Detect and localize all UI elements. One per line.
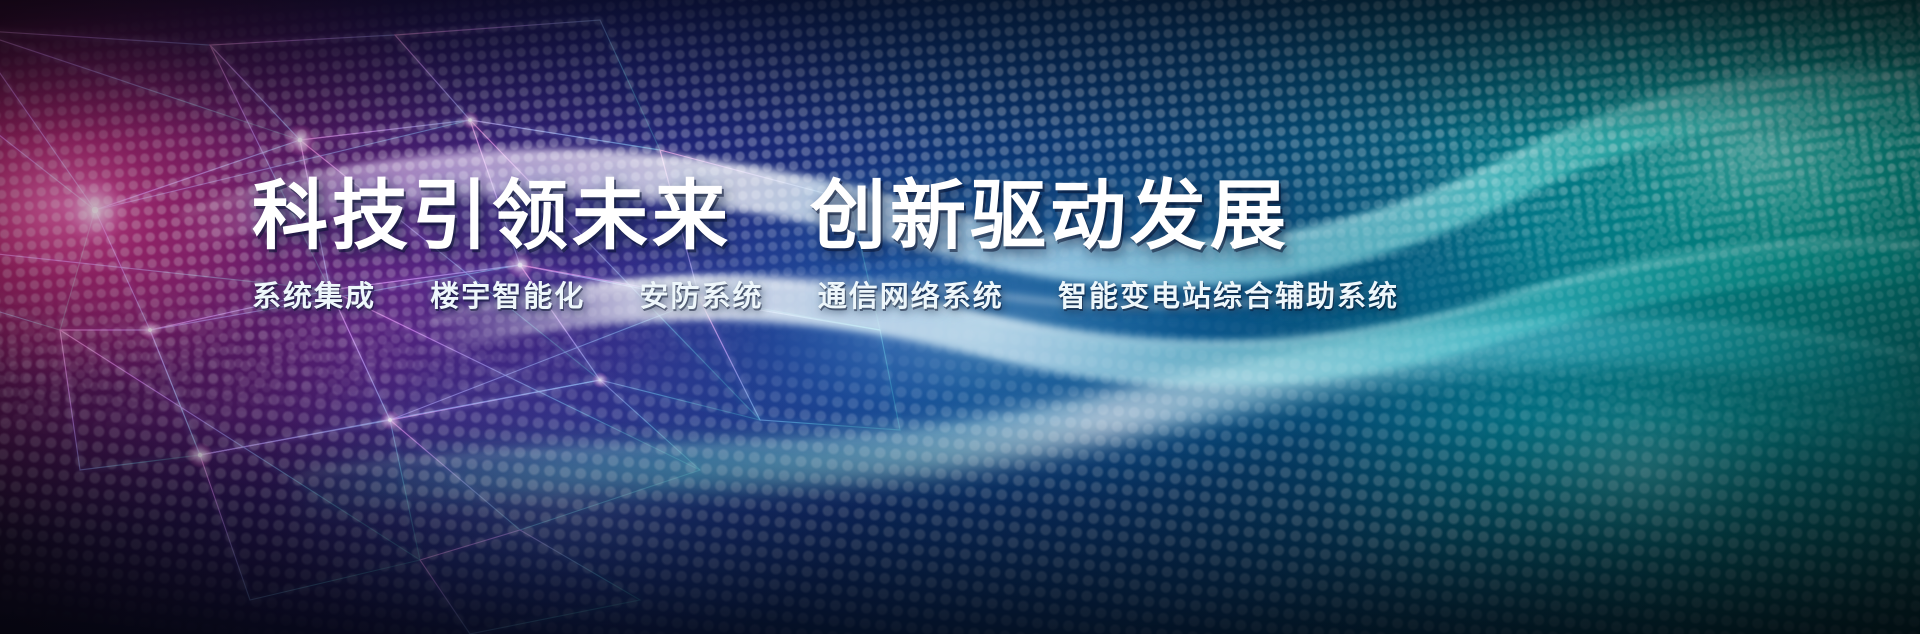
subtitle-item-1: 楼宇智能化 — [430, 282, 585, 311]
tech-banner: 科技引领未来 创新驱动发展 系统集成 楼宇智能化 安防系统 通信网络系统 智能变… — [0, 0, 1920, 634]
subtitle-item-0: 系统集成 — [252, 282, 376, 311]
banner-subtitle: 系统集成 楼宇智能化 安防系统 通信网络系统 智能变电站综合辅助系统 — [252, 282, 1392, 311]
subtitle-item-4: 智能变电站综合辅助系统 — [1058, 282, 1399, 311]
headline-left: 科技引领未来 — [252, 178, 732, 254]
banner-text-block: 科技引领未来 创新驱动发展 系统集成 楼宇智能化 安防系统 通信网络系统 智能变… — [252, 178, 1392, 311]
subtitle-item-3: 通信网络系统 — [818, 282, 1004, 311]
banner-headline: 科技引领未来 创新驱动发展 — [252, 178, 1392, 254]
vignette-overlay — [0, 0, 1920, 634]
headline-right: 创新驱动发展 — [810, 178, 1290, 254]
subtitle-item-2: 安防系统 — [639, 282, 763, 311]
